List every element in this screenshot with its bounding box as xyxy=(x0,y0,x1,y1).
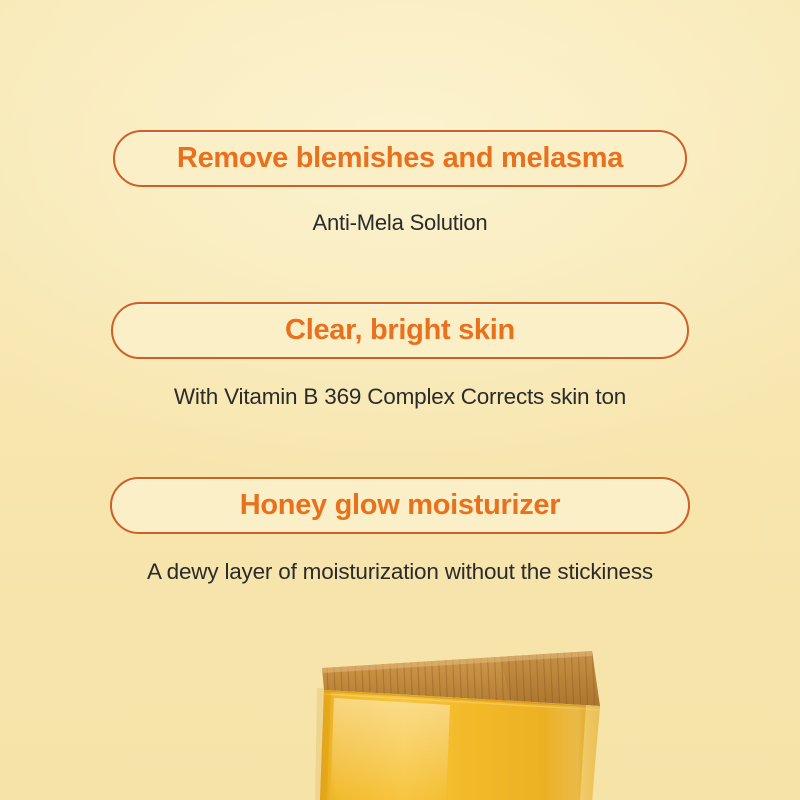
benefit-headline-pill-2: Clear, bright skin xyxy=(111,302,689,359)
tube-body xyxy=(320,690,600,800)
benefit-headline-text-1: Remove blemishes and melasma xyxy=(177,144,623,173)
product-tube-image xyxy=(300,648,630,800)
benefit-subtitle-1: Anti-Mela Solution xyxy=(0,211,800,235)
benefit-headline-pill-3: Honey glow moisturizer xyxy=(110,477,690,534)
benefit-block-1: Remove blemishes and melasma Anti-Mela S… xyxy=(0,130,800,235)
benefit-headline-text-3: Honey glow moisturizer xyxy=(240,491,561,520)
benefit-block-2: Clear, bright skin With Vitamin B 369 Co… xyxy=(0,302,800,410)
product-benefits-page: Remove blemishes and melasma Anti-Mela S… xyxy=(0,0,800,800)
benefit-headline-pill-1: Remove blemishes and melasma xyxy=(113,130,687,187)
benefit-subtitle-2: With Vitamin B 369 Complex Corrects skin… xyxy=(0,385,800,410)
benefit-block-3: Honey glow moisturizer A dewy layer of m… xyxy=(0,477,800,585)
benefit-subtitle-3: A dewy layer of moisturization without t… xyxy=(0,560,800,585)
benefit-headline-text-2: Clear, bright skin xyxy=(285,316,515,345)
